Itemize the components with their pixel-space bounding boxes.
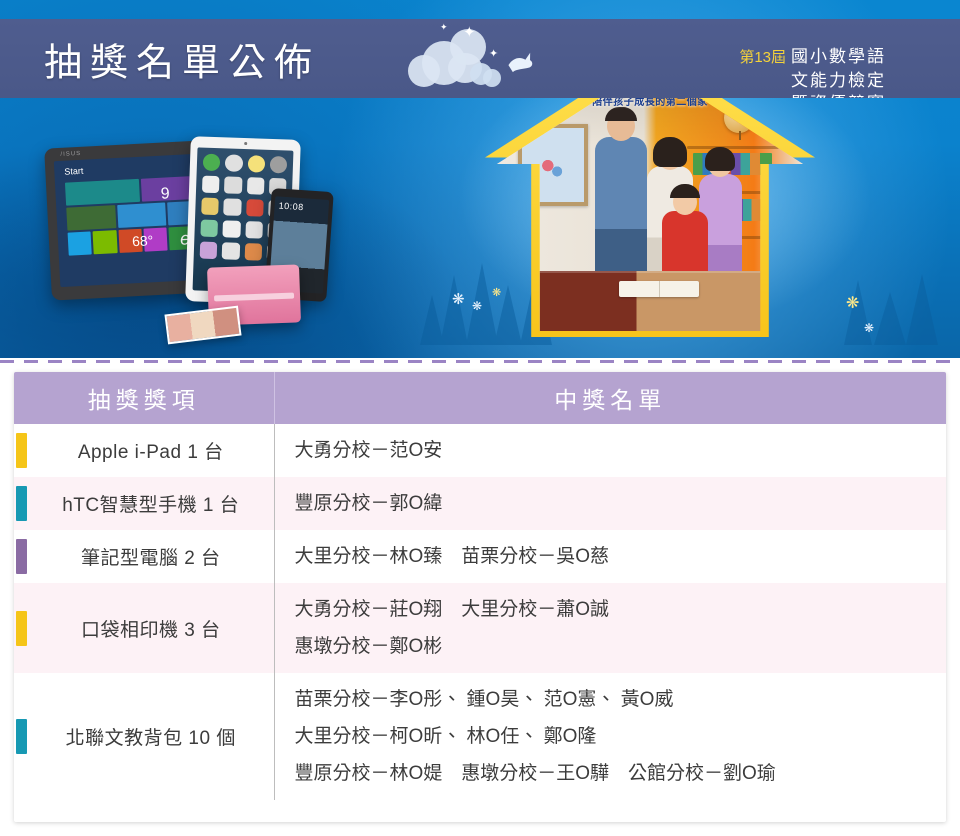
table-body: Apple i-Pad 1 台大勇分校－范O安hTC智慧型手機 1 台豐原分校－… (14, 424, 946, 800)
cloud-icon (483, 69, 501, 87)
prize-label: 口袋相印機 3 台 (81, 620, 221, 641)
winner-line: 惠墩分校－鄭O彬 (295, 628, 935, 665)
results-card: 抽獎獎項 中獎名單 Apple i-Pad 1 台大勇分校－范O安hTC智慧型手… (14, 372, 946, 822)
prize-label-wrap: Apple i-Pad 1 台 (14, 431, 274, 470)
winners-cell: 大里分校－林O臻 苗栗分校－吳O慈 (274, 530, 946, 583)
winners-cell: 苗栗分校－李O彤、 鍾O昊、 范O憲、 黃O威大里分校－柯O昕、 林O任、 鄭O… (274, 673, 946, 800)
results-section: 抽獎獎項 中獎名單 Apple i-Pad 1 台大勇分校－范O安hTC智慧型手… (0, 358, 960, 836)
snowflower-icon: ❋ (864, 322, 874, 334)
prize-label: Apple i-Pad 1 台 (78, 442, 224, 463)
winners-list: 大勇分校－范O安 (275, 424, 947, 477)
prize-label-wrap: 筆記型電腦 2 台 (14, 537, 274, 576)
tile-count: 9 (160, 185, 170, 203)
cloud-icon (408, 55, 440, 87)
prize-label-wrap: 口袋相印機 3 台 (14, 609, 274, 648)
table-row: 北聯文教背包 10 個苗栗分校－李O彤、 鍾O昊、 范O憲、 黃O威大里分校－柯… (14, 673, 946, 800)
prize-cell: Apple i-Pad 1 台 (14, 424, 274, 477)
star-icon: ✦ (489, 49, 498, 60)
page-title: 抽獎名單公佈 (44, 31, 320, 86)
winners-list: 大勇分校－莊O翔 大里分校－蕭O誠惠墩分校－鄭O彬 (275, 583, 947, 673)
poster-page: ❋ ❋ ❋ ❋ ❋ (0, 0, 960, 836)
star-icon: ✦ (440, 23, 448, 32)
winner-line: 大勇分校－莊O翔 大里分校－蕭O誠 (295, 591, 935, 628)
pine-trees-right-decoration (836, 230, 956, 345)
prize-cell: 口袋相印機 3 台 (14, 583, 274, 673)
snowflower-icon: ❋ (846, 296, 859, 312)
winners-list: 豐原分校－郭O緯 (275, 477, 947, 530)
winner-line: 大勇分校－范O安 (295, 432, 935, 469)
row-color-marker (16, 486, 27, 521)
row-color-marker (16, 539, 27, 574)
prize-cell: hTC智慧型手機 1 台 (14, 477, 274, 530)
winners-list: 苗栗分校－李O彤、 鍾O昊、 范O憲、 黃O威大里分校－柯O昕、 林O任、 鄭O… (275, 673, 947, 800)
row-color-marker (16, 611, 27, 646)
title-strip: 抽獎名單公佈 ✦ ✦ ✦ 第13屆國小數學語 文能力檢定 暨資優競賽 (0, 19, 960, 98)
winner-line: 苗栗分校－李O彤、 鍾O昊、 范O憲、 黃O威 (295, 681, 935, 718)
winners-cell: 大勇分校－范O安 (274, 424, 946, 477)
asus-logo: /ISUS (60, 151, 81, 158)
house-photo-area: 北聯文教是 陪伴孩子成長的第二個家 (497, 66, 803, 331)
winners-table: 抽獎獎項 中獎名單 Apple i-Pad 1 台大勇分校－范O安hTC智慧型手… (14, 372, 946, 800)
table-row: Apple i-Pad 1 台大勇分校－范O安 (14, 424, 946, 477)
winner-line: 豐原分校－郭O緯 (295, 485, 935, 522)
prize-label-wrap: hTC智慧型手機 1 台 (14, 484, 274, 523)
prize-devices-image: /ISUS Start 9 68° e (48, 138, 348, 343)
dashed-divider (0, 360, 960, 363)
winner-line: 大里分校－林O臻 苗栗分校－吳O慈 (295, 538, 935, 575)
header-winners: 中獎名單 (274, 372, 946, 424)
winners-cell: 豐原分校－郭O緯 (274, 477, 946, 530)
snowflower-icon: ❋ (452, 292, 465, 307)
start-label: Start (64, 166, 84, 177)
figure-father (595, 137, 647, 285)
event-ordinal: 第13屆 (739, 49, 786, 66)
event-line-2: 文能力檢定 (739, 69, 886, 92)
prize-label: hTC智慧型手機 1 台 (62, 495, 239, 516)
winners-list: 大里分校－林O臻 苗栗分校－吳O慈 (275, 530, 947, 583)
event-line-1: 國小數學語 (791, 47, 886, 66)
prize-label: 筆記型電腦 2 台 (81, 548, 221, 569)
hero-banner: ❋ ❋ ❋ ❋ ❋ (0, 0, 960, 358)
table-row: 筆記型電腦 2 台大里分校－林O臻 苗栗分校－吳O慈 (14, 530, 946, 583)
brand-tagline: 陪伴孩子成長的第二個家 (497, 97, 803, 110)
prize-cell: 北聯文教背包 10 個 (14, 673, 274, 800)
desk (515, 271, 784, 331)
snowflower-icon: ❋ (472, 300, 482, 312)
prize-label: 北聯文教背包 10 個 (66, 728, 236, 749)
winners-cell: 大勇分校－莊O翔 大里分校－蕭O誠惠墩分校－鄭O彬 (274, 583, 946, 673)
prize-cell: 筆記型電腦 2 台 (14, 530, 274, 583)
tile-temperature: 68° (132, 232, 154, 249)
event-title: 第13屆國小數學語 文能力檢定 暨資優競賽 (739, 45, 886, 98)
header-prize: 抽獎獎項 (14, 372, 274, 424)
table-row: hTC智慧型手機 1 台豐原分校－郭O緯 (14, 477, 946, 530)
camera-icon (244, 142, 247, 145)
prize-label-wrap: 北聯文教背包 10 個 (14, 717, 274, 756)
printed-photo (164, 306, 241, 345)
row-color-marker (16, 719, 27, 754)
table-header-row: 抽獎獎項 中獎名單 (14, 372, 946, 424)
event-line-3: 暨資優競賽 (739, 92, 886, 98)
phone-clock: 10:08 (278, 201, 304, 213)
table-row: 口袋相印機 3 台大勇分校－莊O翔 大里分校－蕭O誠惠墩分校－鄭O彬 (14, 583, 946, 673)
star-icon: ✦ (463, 25, 476, 40)
bird-icon (505, 49, 537, 74)
winner-line: 豐原分校－林O媞 惠墩分校－王O驊 公館分校－劉O瑜 (295, 755, 935, 792)
row-color-marker (16, 433, 27, 468)
winner-line: 大里分校－柯O昕、 林O任、 鄭O隆 (295, 718, 935, 755)
open-book-icon (619, 281, 699, 297)
